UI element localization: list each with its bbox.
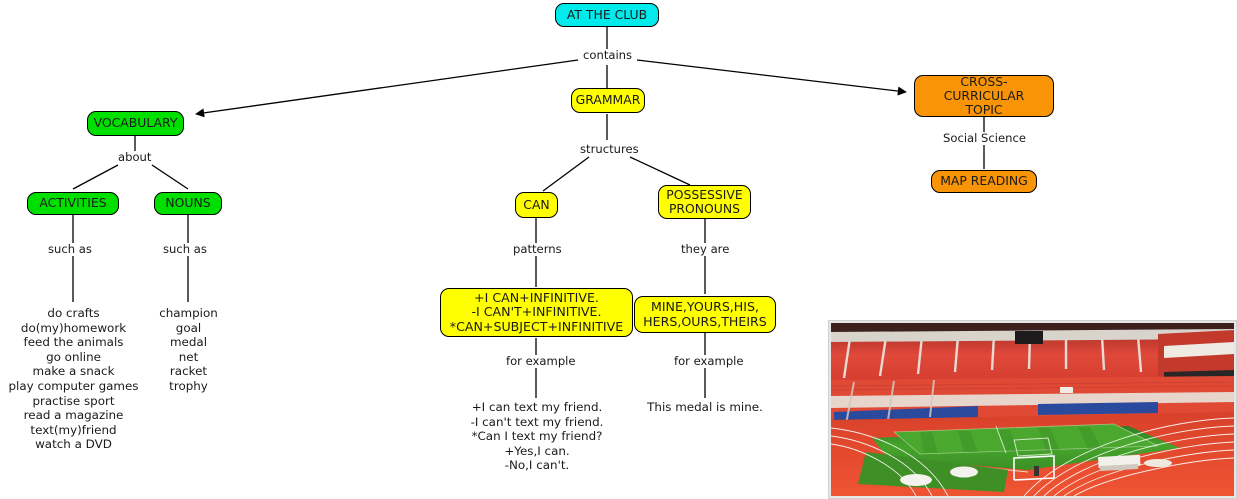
edge-label-social-science: Social Science [941, 132, 1028, 145]
edge-label-for-example-possessive: for example [672, 355, 746, 368]
edge-label-structures: structures [578, 143, 641, 156]
stadium-photograph [828, 320, 1237, 499]
node-cross-curricular-topic[interactable]: CROSS-CURRICULAR TOPIC [914, 75, 1054, 117]
edge-label-patterns: patterns [511, 243, 564, 256]
concept-map-canvas: AT THE CLUB VOCABULARY ACTIVITIES NOUNS … [0, 0, 1237, 499]
node-grammar-label: GRAMMAR [576, 93, 641, 107]
edge-label-about: about [116, 151, 153, 164]
node-nouns-label: NOUNS [165, 196, 210, 210]
edge-label-contains: contains [581, 49, 634, 62]
edge-label-such-as-nouns: such as [161, 243, 209, 256]
node-map-reading[interactable]: MAP READING [931, 170, 1037, 193]
node-can-patterns[interactable]: +I CAN+INFINITIVE. -I CAN'T+INFINITIVE. … [440, 288, 633, 337]
node-can[interactable]: CAN [515, 192, 558, 218]
node-cross-curricular-topic-label: CROSS-CURRICULAR TOPIC [922, 75, 1046, 118]
node-activities[interactable]: ACTIVITIES [27, 192, 119, 215]
edge-label-they-are: they are [679, 243, 731, 256]
node-at-the-club-label: AT THE CLUB [567, 8, 647, 22]
node-possessive-pronouns-label: POSSESSIVE PRONOUNS [666, 188, 742, 216]
node-map-reading-label: MAP READING [940, 174, 1028, 188]
leaf-nouns-examples: champion goal medal net racket trophy [147, 306, 230, 394]
node-possessive-pronouns[interactable]: POSSESSIVE PRONOUNS [658, 185, 751, 219]
node-at-the-club[interactable]: AT THE CLUB [555, 3, 659, 27]
node-can-patterns-label: +I CAN+INFINITIVE. -I CAN'T+INFINITIVE. … [450, 291, 623, 334]
node-vocabulary[interactable]: VOCABULARY [87, 111, 184, 136]
leaf-possessive-example: This medal is mine. [634, 400, 776, 415]
node-vocabulary-label: VOCABULARY [94, 116, 178, 130]
node-can-label: CAN [523, 198, 549, 212]
node-activities-label: ACTIVITIES [39, 196, 106, 210]
edge-label-for-example-can: for example [504, 355, 578, 368]
node-nouns[interactable]: NOUNS [154, 192, 222, 215]
node-possessive-list-label: MINE,YOURS,HIS, HERS,OURS,THEIRS [643, 300, 767, 328]
leaf-can-examples: +I can text my friend. -I can't text my … [446, 400, 628, 473]
edge-label-such-as-activities: such as [46, 243, 94, 256]
node-possessive-list[interactable]: MINE,YOURS,HIS, HERS,OURS,THEIRS [634, 296, 776, 333]
node-grammar[interactable]: GRAMMAR [571, 88, 645, 113]
leaf-activities-examples: do crafts do(my)homework feed the animal… [0, 306, 147, 452]
